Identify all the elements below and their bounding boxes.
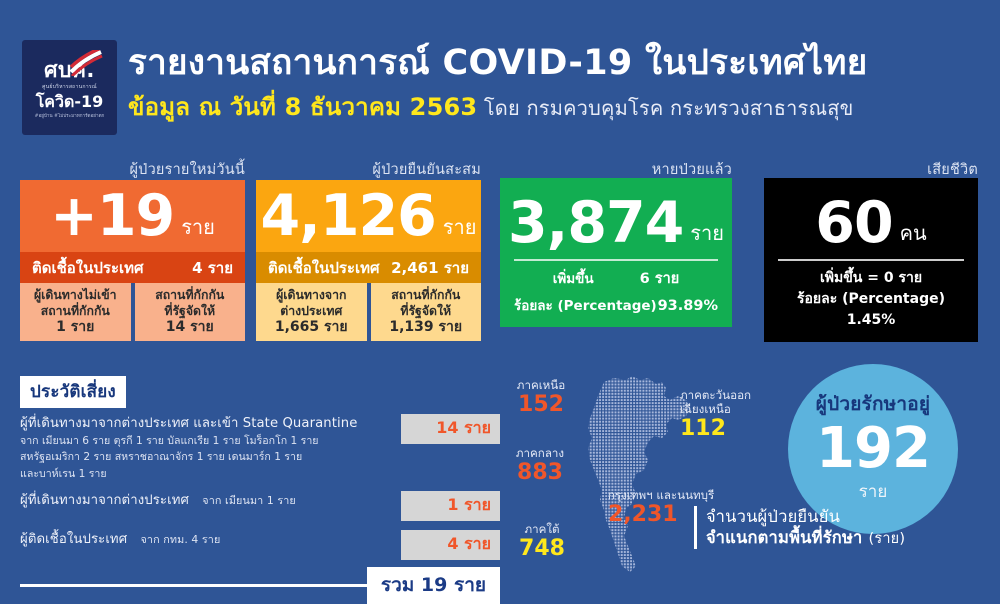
risk-row-detail-line-2: สหรัฐอเมริกา 2 ราย สหราชอาณาจักร 1 ราย เ… — [20, 450, 391, 465]
label-cumulative: ผู้ป่วยยืนยันสะสม — [256, 158, 481, 181]
sub-line-2: สถานที่กักกัน — [22, 304, 129, 320]
caption-line-2: จำแนกตามพื้นที่รักษา (ราย) — [706, 527, 905, 549]
risk-row-value-badge: 14 ราย — [401, 414, 500, 444]
map-caption: จำนวนผู้ป่วยยืนยัน จำแนกตามพื้นที่รักษา … — [694, 506, 905, 549]
caption-line-2-bold: จำแนกตามพื้นที่รักษา — [706, 528, 868, 547]
divider — [514, 259, 718, 261]
region-central-label: ภาคกลาง — [492, 446, 588, 460]
deaths-value: 60 — [815, 195, 892, 252]
recovered-increase-value: 6 ราย — [640, 267, 680, 290]
risk-row-from-abroad: ผู้ที่เดินทางมาจากต่างประเทศ จาก เมียนมา… — [20, 491, 500, 521]
risk-row-main: ผู้ที่เดินทางมาจากต่างประเทศ จาก เมียนมา… — [20, 492, 391, 510]
risk-row-main: ผู้ติดเชื้อในประเทศ จาก กทม. 4 ราย — [20, 531, 391, 549]
region-south: ภาคใต้ 748 — [494, 522, 590, 561]
region-north-value: 152 — [498, 393, 584, 417]
risk-row-state-quarantine: ผู้ที่เดินทางมาจากต่างประเทศ และเข้า Sta… — [20, 414, 500, 482]
sub-line-1: ผู้เดินทางไม่เข้า — [22, 288, 129, 304]
region-central: ภาคกลาง 883 — [492, 446, 588, 485]
sub-line-2: ต่างประเทศ — [258, 304, 365, 320]
sub-line-1: สถานที่กักกัน — [137, 288, 244, 304]
risk-total-value: รวม 19 ราย — [367, 567, 500, 604]
stat-card-deaths: 60 คน เพิ่มขึ้น = 0 ราย ร้อยละ (Percenta… — [764, 178, 978, 342]
active-cases-title: ผู้ป่วยรักษาอยู่ — [816, 389, 930, 419]
sub-line-1: ผู้เดินทางจาก — [258, 288, 365, 304]
cumulative-local-strip: ติดเชื้อในประเทศ 2,461 ราย — [256, 252, 481, 283]
risk-row-main-label: ผู้ที่เดินทางมาจากต่างประเทศ — [20, 493, 189, 508]
risk-row-detail-line-3: และบาห์เรน 1 ราย — [20, 467, 391, 482]
report-source: โดย กรมควบคุมโรค กระทรวงสาธารณสุข — [477, 96, 853, 120]
region-northeast: ภาคตะวันออก เฉียงเหนือ 112 — [680, 388, 800, 441]
sub-line-2: ที่รัฐจัดให้ — [373, 304, 480, 320]
new-cases-local-label: ติดเชื้อในประเทศ — [32, 256, 144, 280]
caption-text: จำนวนผู้ป่วยยืนยัน จำแนกตามพื้นที่รักษา … — [706, 506, 905, 549]
region-south-label: ภาคใต้ — [494, 522, 590, 536]
caption-line-2-thin: (ราย) — [868, 531, 905, 547]
region-central-value: 883 — [492, 461, 588, 485]
region-northeast-value: 112 — [680, 417, 800, 441]
risk-row-detail-line-1: จาก เมียนมา 6 ราย ตุรกี 1 ราย บัลแกเรีย … — [20, 434, 391, 449]
new-cases-value-box: +19 ราย — [20, 180, 245, 252]
caption-accent-bar — [694, 506, 697, 549]
deaths-percent-line: ร้อยละ (Percentage) 1.45% — [778, 289, 964, 331]
new-cases-value: +19 — [50, 188, 174, 245]
risk-row-value-badge: 1 ราย — [401, 491, 500, 521]
risk-row-text: ผู้ที่เดินทางมาจากต่างประเทศ จาก เมียนมา… — [20, 491, 391, 510]
stat-card-new-cases: +19 ราย ติดเชื้อในประเทศ 4 ราย ผู้เดินทา… — [20, 180, 245, 341]
region-northeast-label-line-2: เฉียงเหนือ — [680, 402, 800, 416]
stat-card-cumulative: 4,126 ราย ติดเชื้อในประเทศ 2,461 ราย ผู้… — [256, 180, 481, 341]
deaths-unit: คน — [900, 217, 927, 249]
sub-value: 1 ราย — [22, 319, 129, 337]
logo-covid-text: โควิด-19 — [36, 94, 104, 110]
recovered-increase-label: เพิ่มขึ้น — [553, 267, 594, 289]
label-new-cases: ผู้ป่วยรายใหม่วันนี้ — [20, 158, 245, 181]
new-cases-unit: ราย — [181, 211, 215, 243]
cbc-logo: ศบค. ศูนย์บริหารสถานการณ์ โควิด-19 #อยู่… — [22, 40, 117, 135]
divider — [778, 259, 964, 261]
new-cases-local-strip: ติดเชื้อในประเทศ 4 ราย — [20, 252, 245, 283]
recovered-percent-row: ร้อยละ (Percentage) 93.89% — [514, 294, 718, 316]
divider — [20, 584, 367, 587]
logo-subtitle-1: ศูนย์บริหารสถานการณ์ — [42, 83, 97, 91]
recovered-value: 3,874 — [508, 195, 683, 252]
new-cases-sub-nonquarantine: ผู้เดินทางไม่เข้า สถานที่กักกัน 1 ราย — [20, 283, 131, 341]
region-northeast-label-line-1: ภาคตะวันออก — [680, 388, 800, 402]
new-cases-local-value: 4 ราย — [192, 256, 233, 280]
thailand-map-section: ภาคเหนือ 152 ภาคตะวันออก เฉียงเหนือ 112 … — [498, 372, 798, 594]
region-north-label: ภาคเหนือ — [498, 378, 584, 392]
cumulative-sub-from-abroad: ผู้เดินทางจาก ต่างประเทศ 1,665 ราย — [256, 283, 367, 341]
title-block: รายงานสถานการณ์ COVID-19 ในประเทศไทย ข้อ… — [128, 44, 988, 126]
region-north: ภาคเหนือ 152 — [498, 378, 584, 417]
thai-flag-ribbon — [69, 50, 103, 76]
sub-line-2: ที่รัฐจัดให้ — [137, 304, 244, 320]
recovered-percent-value: 93.89% — [658, 298, 718, 314]
spacer — [20, 521, 500, 530]
risk-row-main-detail: จาก เมียนมา 1 ราย — [202, 494, 296, 507]
sub-value: 1,665 ราย — [258, 319, 365, 337]
recovered-increase-row: เพิ่มขึ้น 6 ราย — [514, 267, 718, 290]
cumulative-local-label: ติดเชื้อในประเทศ — [268, 256, 380, 280]
active-cases-value: 192 — [816, 421, 930, 477]
region-south-value: 748 — [494, 537, 590, 561]
risk-row-local-infection: ผู้ติดเชื้อในประเทศ จาก กทม. 4 ราย 4 ราย — [20, 530, 500, 560]
risk-row-main: ผู้ที่เดินทางมาจากต่างประเทศ และเข้า Sta… — [20, 415, 391, 433]
risk-row-main-label: ผู้ติดเชื้อในประเทศ — [20, 532, 127, 547]
page-title: รายงานสถานการณ์ COVID-19 ในประเทศไทย — [128, 44, 988, 83]
sub-line-1: สถานที่กักกัน — [373, 288, 480, 304]
spacer — [20, 482, 500, 491]
new-cases-sub-state-quarantine: สถานที่กักกัน ที่รัฐจัดให้ 14 ราย — [135, 283, 246, 341]
header: ศบค. ศูนย์บริหารสถานการณ์ โควิด-19 #อยู่… — [0, 0, 1000, 150]
region-bangkok-label: กรุงเทพฯ และนนทบุรี — [608, 488, 798, 502]
deaths-value-box: 60 คน — [778, 188, 964, 258]
stat-card-recovered: 3,874 ราย เพิ่มขึ้น 6 ราย ร้อยละ (Percen… — [500, 178, 732, 327]
cumulative-subrow: ผู้เดินทางจาก ต่างประเทศ 1,665 ราย สถานท… — [256, 283, 481, 341]
cumulative-local-value: 2,461 ราย — [391, 256, 469, 280]
risk-history-rows: ผู้ที่เดินทางมาจากต่างประเทศ และเข้า Sta… — [20, 414, 500, 604]
cumulative-value-box: 4,126 ราย — [256, 180, 481, 252]
report-date: ข้อมูล ณ วันที่ 8 ธันวาคม 2563 — [128, 93, 477, 121]
risk-row-text: ผู้ที่เดินทางมาจากต่างประเทศ และเข้า Sta… — [20, 414, 391, 482]
page-subtitle: ข้อมูล ณ วันที่ 8 ธันวาคม 2563 โดย กรมคว… — [128, 87, 988, 126]
cumulative-value: 4,126 — [261, 188, 436, 245]
active-cases-unit: ราย — [859, 478, 888, 505]
cumulative-unit: ราย — [443, 211, 477, 243]
recovered-unit: ราย — [690, 217, 724, 249]
risk-history-section: ประวัติเสี่ยง ผู้ที่เดินทางมาจากต่างประเ… — [20, 376, 500, 604]
risk-row-text: ผู้ติดเชื้อในประเทศ จาก กทม. 4 ราย — [20, 530, 391, 549]
risk-row-main-detail: จาก กทม. 4 ราย — [141, 533, 221, 546]
risk-total-row: รวม 19 ราย — [20, 567, 500, 604]
new-cases-subrow: ผู้เดินทางไม่เข้า สถานที่กักกัน 1 ราย สถ… — [20, 283, 245, 341]
risk-history-title: ประวัติเสี่ยง — [20, 376, 126, 408]
sub-value: 1,139 ราย — [373, 319, 480, 337]
sub-value: 14 ราย — [137, 319, 244, 337]
logo-subtitle-2: #อยู่บ้าน #ไม่ประมาทการ์ดอย่าตก — [35, 113, 105, 120]
cumulative-sub-state-quarantine: สถานที่กักกัน ที่รัฐจัดให้ 1,139 ราย — [371, 283, 482, 341]
recovered-value-box: 3,874 ราย — [514, 188, 718, 258]
recovered-percent-label: ร้อยละ (Percentage) — [514, 294, 657, 316]
risk-row-value-badge: 4 ราย — [401, 530, 500, 560]
caption-line-1: จำนวนผู้ป่วยยืนยัน — [706, 506, 905, 527]
deaths-increase-line: เพิ่มขึ้น = 0 ราย — [778, 268, 964, 289]
